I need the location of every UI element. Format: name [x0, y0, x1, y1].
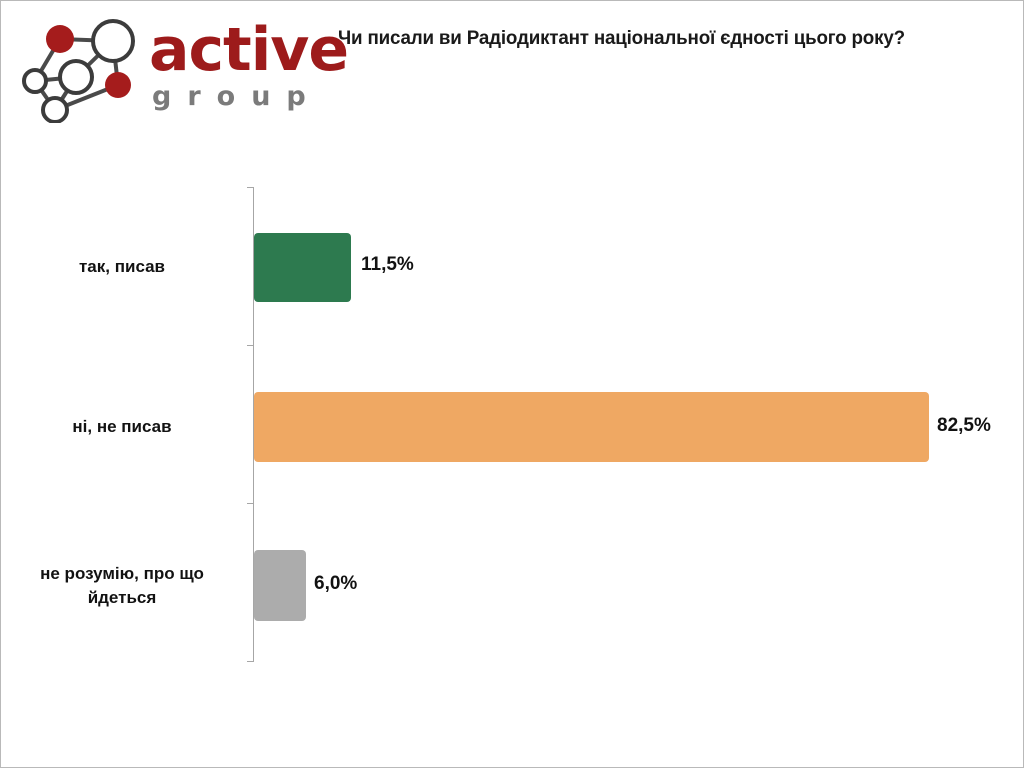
axis-tick-top [247, 187, 254, 188]
bar-category-label: ні, не писав [7, 415, 237, 439]
bar-category-label-line: не розумію, про що [7, 562, 237, 586]
bar-value-label: 82,5% [937, 415, 991, 437]
bar-value-label: 6,0% [314, 573, 357, 595]
bar-category-label: так, писав [7, 255, 237, 279]
slide-canvas: active group Чи писали ви Радіодиктант н… [0, 0, 1024, 768]
bar-value-label: 11,5% [361, 254, 414, 276]
bar-chart: так, писав 11,5% ні, не писав 82,5% не р… [1, 1, 1024, 768]
bar-tak-pysav[interactable] [254, 233, 351, 302]
axis-tick-bottom [247, 661, 254, 662]
bar-ne-rozumiyu[interactable] [254, 550, 306, 621]
bar-category-label-line: йдеться [7, 586, 237, 610]
bar-ni-ne-pysav[interactable] [254, 392, 929, 462]
axis-tick-1 [247, 345, 254, 346]
axis-tick-2 [247, 503, 254, 504]
bar-category-label: не розумію, про що йдеться [7, 562, 237, 610]
